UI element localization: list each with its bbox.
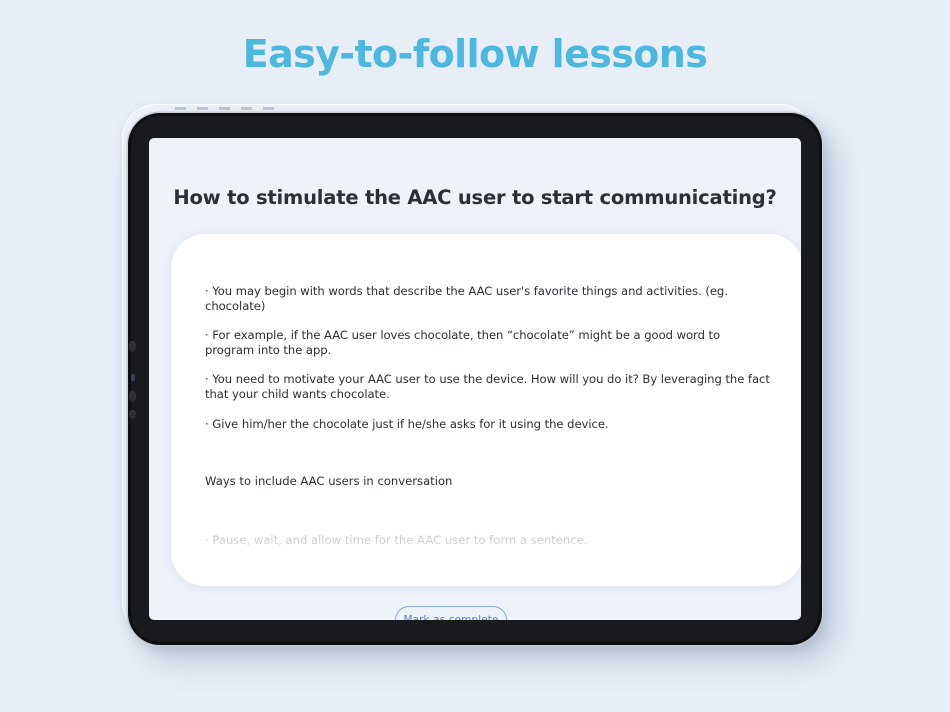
side-button-3[interactable] bbox=[129, 410, 136, 419]
page-title: Easy-to-follow lessons bbox=[0, 32, 950, 76]
list-item: · You need to motivate your AAC user to … bbox=[205, 372, 770, 401]
ghost-device-top-dashes bbox=[175, 107, 285, 110]
lesson-content-body: · You may begin with words that describe… bbox=[205, 284, 770, 547]
section-heading: Ways to include AAC users in conversatio… bbox=[205, 474, 770, 489]
mark-as-complete-button[interactable]: Mark as complete bbox=[395, 606, 507, 620]
side-button-2[interactable] bbox=[129, 391, 136, 402]
tablet-screen: How to stimulate the AAC user to start c… bbox=[149, 138, 801, 620]
list-item: · You may begin with words that describe… bbox=[205, 284, 770, 313]
lesson-title: How to stimulate the AAC user to start c… bbox=[149, 186, 801, 209]
list-item: · For example, if the AAC user loves cho… bbox=[205, 328, 770, 357]
lesson-content-card: · You may begin with words that describe… bbox=[171, 234, 801, 586]
faded-list-item: · Pause, wait, and allow time for the AA… bbox=[205, 533, 770, 548]
list-item: · Give him/her the chocolate just if he/… bbox=[205, 417, 770, 432]
side-button-glint bbox=[131, 374, 135, 381]
side-button-1[interactable] bbox=[129, 341, 136, 352]
tablet-device: How to stimulate the AAC user to start c… bbox=[128, 113, 822, 645]
